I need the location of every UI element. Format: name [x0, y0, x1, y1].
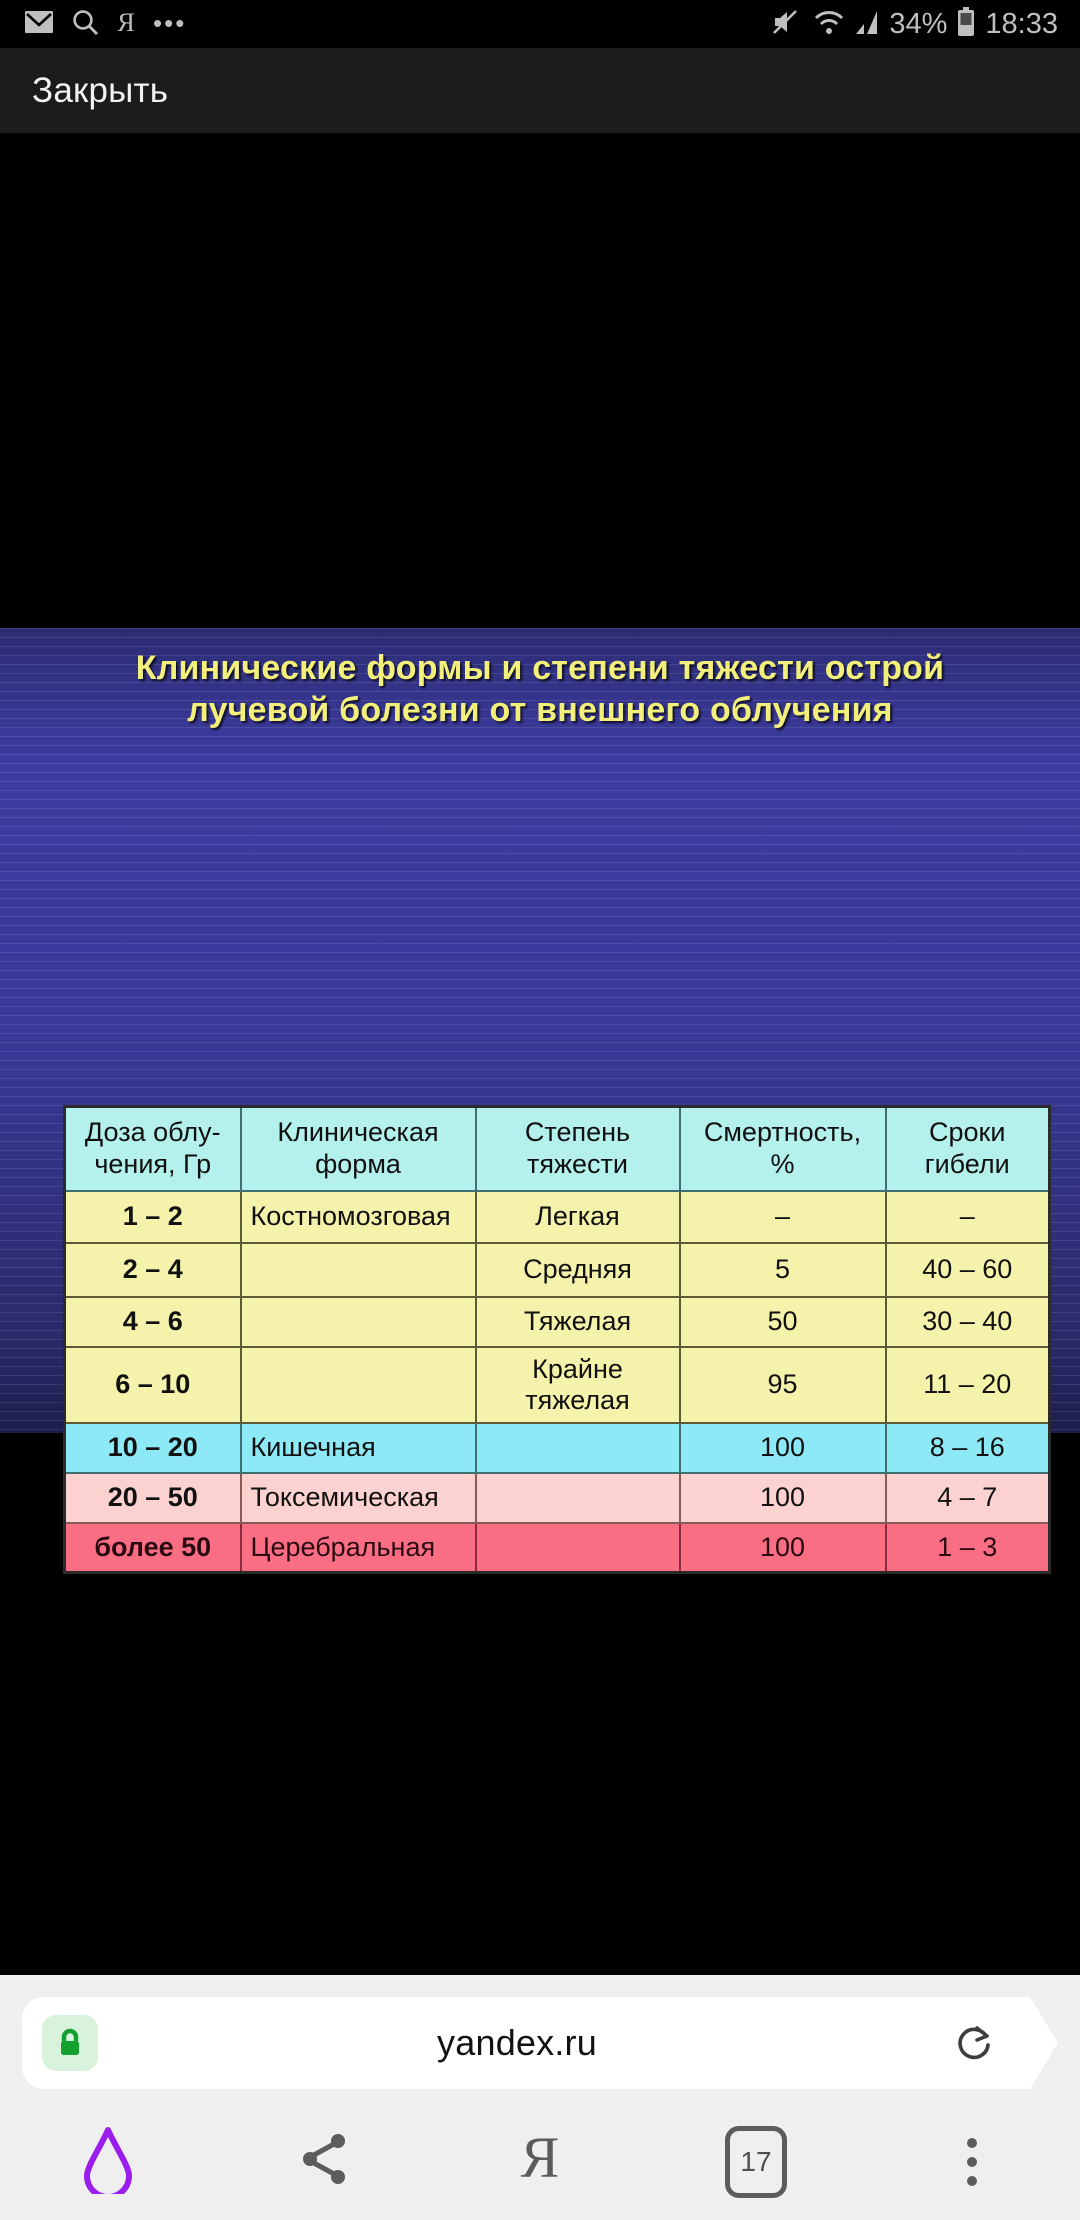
status-bar: Я ••• 34% 18:33	[0, 0, 1080, 48]
cell-dose: 4 – 6	[65, 1297, 241, 1347]
column-header-death-term: Сроки гибели	[886, 1107, 1050, 1191]
image-viewer-canvas[interactable]: Клинические формы и степени тяжести остр…	[0, 133, 1080, 1975]
column-header-death-term-line2: гибели	[897, 1149, 1039, 1180]
slide-image[interactable]: Клинические формы и степени тяжести остр…	[0, 628, 1080, 1433]
cell-severity-line1: Крайне	[487, 1354, 669, 1384]
battery-icon	[956, 7, 976, 42]
cell-form	[241, 1347, 476, 1423]
cell-severity	[476, 1473, 680, 1523]
radiation-severity-table: Доза облу- чения, Гр Клиническая форма С…	[63, 1105, 1051, 1574]
cell-term: 1 – 3	[886, 1523, 1050, 1573]
cell-dose: 6 – 10	[65, 1347, 241, 1423]
cell-dose: 1 – 2	[65, 1191, 241, 1243]
cell-mortality: 100	[680, 1473, 886, 1523]
alice-assistant-button[interactable]	[0, 2103, 216, 2220]
cell-severity: Тяжелая	[476, 1297, 680, 1347]
table-row: 1 – 2 Костномозговая Легкая – –	[65, 1191, 1050, 1243]
url-text[interactable]: yandex.ru	[88, 2022, 946, 2064]
column-header-dose-line1: Доза облу-	[76, 1117, 230, 1148]
cell-mortality: 50	[680, 1297, 886, 1347]
cell-term: 11 – 20	[886, 1347, 1050, 1423]
yandex-home-button[interactable]: Я	[432, 2103, 648, 2220]
cell-severity: Легкая	[476, 1191, 680, 1243]
tabs-button[interactable]: 17	[648, 2103, 864, 2220]
table-row: 2 – 4 Средняя 5 40 – 60	[65, 1243, 1050, 1297]
column-header-severity: Степень тяжести	[476, 1107, 680, 1191]
cell-form: Церебральная	[241, 1523, 476, 1573]
cell-term: –	[886, 1191, 1050, 1243]
tabs-icon: 17	[725, 2126, 787, 2198]
cell-mortality: 100	[680, 1423, 886, 1473]
mail-icon	[24, 10, 54, 39]
cell-mortality: 100	[680, 1523, 886, 1573]
table-row: 20 – 50 Токсемическая 100 4 – 7	[65, 1473, 1050, 1523]
status-bar-notification-icons: Я •••	[24, 8, 186, 41]
column-header-clinical-form: Клиническая форма	[241, 1107, 476, 1191]
cell-form	[241, 1297, 476, 1347]
close-toolbar: Закрыть	[0, 48, 1080, 133]
tab-count-label: 17	[740, 2146, 771, 2178]
column-header-dose: Доза облу- чения, Гр	[65, 1107, 241, 1191]
cell-severity	[476, 1423, 680, 1473]
cell-mortality: 5	[680, 1243, 886, 1297]
url-bar[interactable]: yandex.ru	[22, 1997, 1058, 2089]
overflow-dots-icon: •••	[153, 16, 186, 32]
column-header-death-term-line1: Сроки	[897, 1117, 1039, 1148]
cell-mortality: 95	[680, 1347, 886, 1423]
mute-icon	[772, 8, 804, 41]
search-icon	[71, 8, 99, 41]
column-header-mortality: Смертность, %	[680, 1107, 886, 1191]
yandex-icon: Я	[116, 8, 136, 41]
battery-percent-label: 34%	[889, 10, 947, 39]
cell-term: 40 – 60	[886, 1243, 1050, 1297]
cell-form: Кишечная	[241, 1423, 476, 1473]
yandex-icon: Я	[516, 2127, 564, 2196]
column-header-clinical-form-line2: форма	[252, 1149, 465, 1180]
cell-severity	[476, 1523, 680, 1573]
cell-dose: 2 – 4	[65, 1243, 241, 1297]
table-header-row: Доза облу- чения, Гр Клиническая форма С…	[65, 1107, 1050, 1191]
column-header-severity-line2: тяжести	[487, 1149, 669, 1180]
cell-form: Костномозговая	[241, 1191, 476, 1243]
table-row: 6 – 10 Крайне тяжелая 95 11 – 20	[65, 1347, 1050, 1423]
cell-dose: более 50	[65, 1523, 241, 1573]
browser-bottom-chrome: yandex.ru	[0, 1975, 1080, 2220]
cellular-signal-icon	[854, 8, 880, 41]
cell-term: 4 – 7	[886, 1473, 1050, 1523]
browser-toolbar: Я 17	[0, 2103, 1080, 2220]
cell-form: Токсемическая	[241, 1473, 476, 1523]
column-header-clinical-form-line1: Клиническая	[252, 1117, 465, 1148]
column-header-severity-line1: Степень	[487, 1117, 669, 1148]
table-row: 10 – 20 Кишечная 100 8 – 16	[65, 1423, 1050, 1473]
share-button[interactable]	[216, 2103, 432, 2220]
cell-severity: Крайне тяжелая	[476, 1347, 680, 1423]
slide-title: Клинические формы и степени тяжести остр…	[120, 648, 960, 732]
column-header-mortality-line1: Смертность,	[691, 1117, 875, 1148]
status-bar-system-icons: 34% 18:33	[772, 7, 1058, 42]
column-header-mortality-line2: %	[691, 1149, 875, 1180]
cell-dose: 20 – 50	[65, 1473, 241, 1523]
alice-assistant-icon	[76, 2124, 140, 2199]
svg-text:Я: Я	[521, 2127, 560, 2190]
svg-text:Я: Я	[117, 8, 134, 36]
cell-dose: 10 – 20	[65, 1423, 241, 1473]
cell-mortality: –	[680, 1191, 886, 1243]
cell-term: 8 – 16	[886, 1423, 1050, 1473]
cell-severity: Средняя	[476, 1243, 680, 1297]
share-icon	[296, 2129, 352, 2194]
table-row: 4 – 6 Тяжелая 50 30 – 40	[65, 1297, 1050, 1347]
close-button[interactable]: Закрыть	[0, 71, 168, 111]
menu-button[interactable]	[864, 2103, 1080, 2220]
status-bar-clock: 18:33	[985, 10, 1058, 39]
cell-term: 30 – 40	[886, 1297, 1050, 1347]
cell-severity-line2: тяжелая	[487, 1385, 669, 1415]
reload-icon[interactable]	[946, 2015, 1002, 2071]
column-header-dose-line2: чения, Гр	[76, 1149, 230, 1180]
menu-kebab-icon	[967, 2138, 977, 2186]
table-row: более 50 Церебральная 100 1 – 3	[65, 1523, 1050, 1573]
wifi-icon	[813, 8, 845, 41]
cell-form	[241, 1243, 476, 1297]
